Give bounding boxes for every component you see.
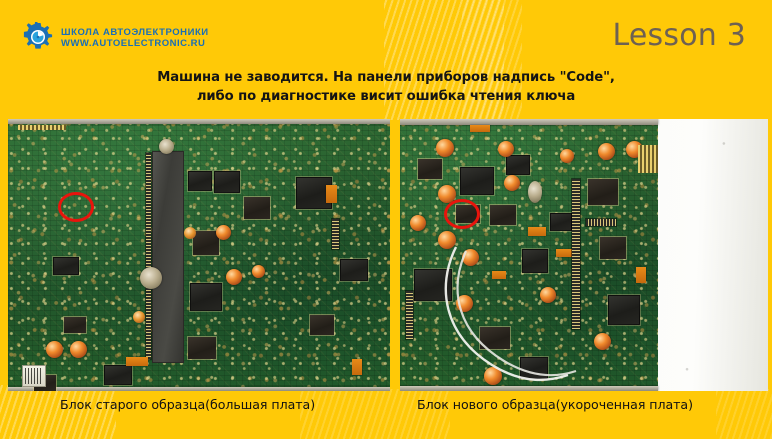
brand-logo[interactable]: ШКОЛА АВТОЭЛЕКТРОНИКИ WWW.AUTOELECTRONIC… [22, 22, 209, 54]
capacitor [46, 341, 63, 358]
board-sticker [22, 365, 46, 387]
ic-chip [522, 249, 548, 273]
brand-line-1: ШКОЛА АВТОЭЛЕКТРОНИКИ [61, 27, 209, 38]
capacitor [484, 367, 502, 385]
inductor-coil [140, 267, 162, 289]
resistor [352, 359, 362, 375]
capacitor [133, 311, 145, 323]
slide-title: Машина не заводится. На панели приборов … [0, 69, 772, 106]
connector-pin-row [146, 153, 151, 359]
ic-chip [190, 283, 222, 311]
pin-header [586, 219, 616, 226]
board-bottom-edge [400, 386, 658, 391]
ic-chip [480, 327, 510, 349]
capacitor [498, 141, 514, 157]
ic-chip [104, 365, 132, 385]
ic-chip-highlighted [64, 317, 86, 333]
capacitor [410, 215, 426, 231]
capacitor [598, 143, 615, 160]
pcb-new [400, 119, 658, 391]
ic-chip [193, 231, 219, 255]
ic-chip [188, 171, 212, 191]
capacitor [462, 249, 479, 266]
title-line-2: либо по диагностике висит ошибка чтения … [0, 88, 772, 107]
capacitor [184, 227, 196, 239]
ic-chip [490, 205, 516, 225]
capacitor [456, 295, 473, 312]
resistor [326, 185, 337, 203]
inductor-coil [528, 181, 542, 203]
capacitor [216, 225, 231, 240]
pin-header [406, 291, 413, 339]
inductor-coil [159, 139, 174, 154]
capacitor [252, 265, 265, 278]
resistor [126, 357, 148, 366]
pcb-old [8, 119, 390, 391]
capacitor [594, 333, 611, 350]
resistor [470, 125, 490, 132]
ic-chip [244, 197, 270, 219]
decorative-stripes-bottom-right [716, 389, 772, 439]
ic-chip [600, 237, 626, 259]
ic-chip [214, 171, 240, 193]
capacitor [540, 287, 556, 303]
ic-chip [460, 167, 494, 195]
ic-chip [340, 259, 368, 281]
ic-chip [520, 357, 548, 379]
resistor [528, 227, 546, 236]
board-bottom-edge [8, 387, 390, 391]
title-line-1: Машина не заводится. На панели приборов … [0, 69, 772, 88]
caption-old-module: Блок старого образца(большая плата) [60, 397, 315, 412]
microcontroller [414, 269, 452, 301]
annotation-circle-new-board [444, 199, 480, 229]
ic-chip [310, 315, 334, 335]
resistor [556, 249, 572, 257]
eeprom-chip [588, 179, 618, 205]
resistor [636, 267, 646, 283]
ic-chip [188, 337, 216, 359]
ic-chip [418, 159, 442, 179]
gold-contact-fingers [638, 145, 658, 173]
decorative-stripes-bottom-left [0, 385, 116, 439]
ic-chip [608, 295, 640, 325]
sticker-barcode [25, 368, 43, 384]
slide-canvas: ШКОЛА АВТОЭЛЕКТРОНИКИ WWW.AUTOELECTRONIC… [0, 0, 772, 439]
board-top-edge [400, 119, 658, 125]
capacitor [70, 341, 87, 358]
photo-new-module[interactable] [400, 119, 768, 391]
ic-chip [506, 155, 530, 175]
caption-new-module: Блок нового образца(укороченная плата) [417, 397, 693, 412]
gear-icon [22, 22, 54, 54]
capacitor [436, 139, 454, 157]
capacitor [504, 175, 520, 191]
pin-header [332, 219, 339, 249]
board-connector-old [152, 151, 184, 363]
photo-old-module[interactable] [8, 119, 390, 391]
pin-header [572, 179, 580, 329]
capacitor [438, 231, 456, 249]
gold-contact-fingers [18, 125, 66, 130]
resistor [492, 271, 506, 279]
ic-chip [53, 257, 79, 275]
lesson-label: Lesson 3 [613, 18, 747, 53]
ic-chip [550, 213, 572, 231]
brand-line-2: WWW.AUTOELECTRONIC.RU [61, 38, 209, 49]
capacitor [560, 149, 574, 163]
board-top-edge [8, 119, 390, 124]
annotation-circle-old-board [58, 192, 94, 222]
photo-row [0, 119, 772, 391]
capacitor [226, 269, 242, 285]
